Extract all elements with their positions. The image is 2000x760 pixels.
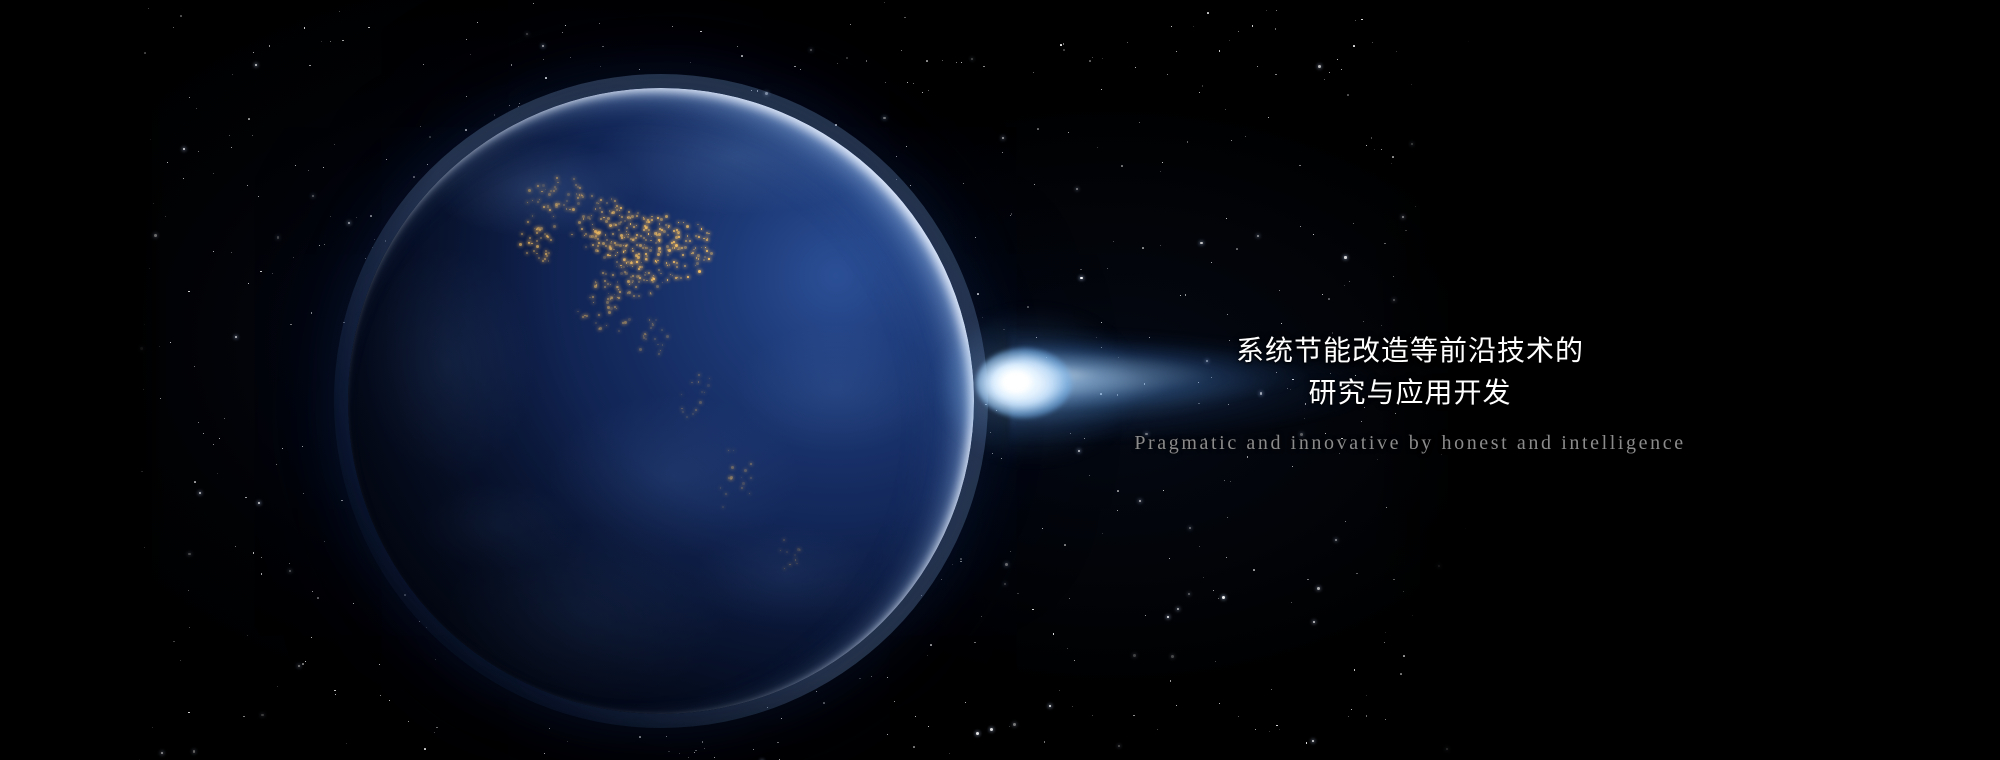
star	[232, 74, 233, 75]
star	[213, 173, 214, 174]
star	[261, 714, 263, 716]
star	[235, 336, 237, 338]
star	[1341, 69, 1342, 70]
star	[1215, 661, 1216, 662]
star	[781, 718, 782, 719]
star	[311, 637, 312, 638]
star	[188, 291, 190, 293]
star	[253, 52, 254, 53]
star	[1072, 706, 1073, 707]
star	[341, 500, 343, 502]
star	[253, 552, 255, 554]
star	[319, 245, 320, 246]
star	[1231, 140, 1232, 141]
star	[1009, 726, 1010, 727]
star	[1276, 725, 1278, 727]
star	[1227, 517, 1228, 518]
star	[1355, 20, 1356, 21]
star	[983, 66, 985, 68]
star	[672, 26, 673, 27]
star	[915, 716, 916, 717]
star	[277, 686, 278, 687]
star	[248, 283, 249, 284]
star	[1042, 528, 1043, 529]
star	[436, 727, 438, 729]
star	[526, 33, 528, 35]
star	[753, 749, 754, 750]
star	[183, 148, 185, 150]
star	[330, 41, 331, 42]
star	[975, 237, 976, 238]
star	[1329, 72, 1330, 73]
hero-banner: 系统节能改造等前沿技术的 研究与应用开发 Pragmatic and innov…	[0, 0, 2000, 760]
star	[887, 734, 888, 735]
star	[248, 118, 250, 120]
star	[545, 77, 547, 79]
star	[926, 60, 928, 62]
star	[258, 196, 259, 197]
star	[1004, 583, 1006, 585]
star	[1275, 28, 1277, 30]
star	[1349, 281, 1350, 282]
star	[942, 60, 943, 61]
star	[324, 541, 325, 542]
star	[1053, 633, 1055, 635]
star	[810, 49, 812, 51]
star	[1102, 58, 1103, 59]
star	[639, 69, 640, 70]
star	[1276, 10, 1278, 12]
star	[1268, 117, 1269, 118]
star	[1017, 593, 1019, 595]
star	[1344, 285, 1345, 286]
star	[567, 741, 568, 742]
star	[570, 57, 571, 58]
star	[180, 660, 181, 661]
star	[1067, 648, 1068, 649]
star	[423, 64, 424, 65]
star	[1271, 689, 1272, 690]
star	[213, 444, 214, 445]
star	[1348, 716, 1349, 717]
star	[961, 62, 962, 63]
star	[1176, 51, 1177, 52]
star	[1279, 729, 1280, 730]
star	[173, 27, 174, 28]
star	[1063, 49, 1065, 51]
star	[1127, 42, 1128, 43]
star	[1097, 147, 1098, 148]
star	[777, 742, 779, 744]
star	[1252, 25, 1254, 27]
star	[258, 502, 260, 504]
star	[1345, 521, 1346, 522]
star	[1238, 716, 1240, 718]
star	[1117, 490, 1119, 492]
star	[424, 748, 426, 750]
star	[1063, 43, 1065, 45]
banner-tagline: Pragmatic and innovative by honest and i…	[1060, 432, 1760, 455]
star	[343, 322, 345, 324]
star	[1354, 669, 1356, 671]
star	[1253, 569, 1255, 571]
star	[1219, 50, 1221, 52]
star	[928, 726, 929, 727]
star	[1226, 557, 1227, 558]
star	[255, 64, 257, 66]
star	[904, 17, 906, 19]
star	[1193, 26, 1194, 27]
star	[977, 293, 979, 295]
star	[1142, 247, 1144, 249]
star	[304, 27, 306, 29]
star	[850, 24, 851, 25]
star	[741, 55, 743, 57]
star	[247, 635, 248, 636]
star	[702, 741, 704, 743]
star	[1344, 256, 1346, 258]
star	[1170, 680, 1172, 682]
star	[1171, 26, 1172, 27]
star	[408, 721, 409, 722]
star	[1133, 654, 1136, 657]
star	[1177, 608, 1179, 610]
star	[949, 753, 950, 754]
headline-line-1: 系统节能改造等前沿技术的	[1060, 330, 1760, 372]
star	[188, 590, 189, 591]
star	[231, 147, 233, 149]
star	[1245, 136, 1247, 138]
star	[666, 736, 667, 737]
star	[189, 97, 190, 98]
star	[272, 273, 273, 274]
star	[368, 27, 370, 29]
star	[183, 178, 184, 179]
star	[1011, 213, 1013, 215]
star	[180, 15, 182, 17]
star	[1074, 660, 1075, 661]
star	[1202, 85, 1204, 87]
star	[335, 694, 336, 695]
star	[1049, 705, 1051, 707]
star	[305, 661, 306, 662]
star	[1189, 527, 1191, 529]
star	[1269, 731, 1271, 733]
star	[971, 58, 973, 60]
star	[1266, 10, 1267, 11]
star	[562, 32, 563, 33]
star	[1068, 132, 1069, 133]
star	[1307, 579, 1309, 581]
star	[252, 135, 254, 137]
star	[907, 82, 908, 83]
star	[1010, 215, 1011, 216]
star	[339, 11, 340, 12]
star	[293, 257, 294, 258]
star	[466, 39, 467, 40]
star	[600, 66, 601, 67]
star	[599, 23, 600, 24]
star	[217, 473, 218, 474]
star	[308, 170, 309, 171]
star	[282, 448, 283, 449]
star	[188, 553, 190, 555]
star	[1107, 268, 1108, 269]
star	[303, 493, 304, 494]
star	[884, 2, 885, 3]
star	[243, 716, 245, 718]
star	[317, 597, 319, 599]
star	[1139, 500, 1141, 502]
star	[639, 736, 641, 738]
star	[913, 746, 915, 748]
star	[229, 135, 230, 136]
star	[1102, 533, 1103, 534]
star	[188, 712, 190, 714]
star	[302, 663, 304, 665]
star	[992, 453, 993, 454]
star	[1167, 616, 1169, 618]
star	[434, 732, 435, 733]
star	[1226, 218, 1227, 219]
star	[219, 438, 220, 439]
star	[1211, 262, 1212, 263]
star	[1225, 109, 1226, 110]
star	[544, 753, 546, 755]
star	[245, 497, 247, 499]
star	[1199, 546, 1200, 547]
star	[1005, 563, 1008, 566]
star	[688, 757, 689, 758]
star	[1163, 490, 1164, 491]
star	[170, 342, 171, 343]
star	[1002, 152, 1003, 153]
comet-core	[992, 364, 1040, 400]
star	[533, 3, 534, 4]
star	[247, 185, 248, 186]
star	[602, 46, 604, 48]
star	[1080, 277, 1082, 279]
star	[1187, 141, 1189, 143]
star	[1313, 234, 1314, 235]
star	[1222, 596, 1225, 599]
star	[1044, 741, 1046, 743]
star	[260, 271, 262, 273]
star	[295, 165, 296, 166]
star	[470, 54, 471, 55]
star	[800, 69, 801, 70]
star	[1361, 19, 1363, 21]
star	[694, 752, 695, 753]
photo-left-fade	[130, 0, 170, 760]
star	[477, 22, 478, 23]
star	[1145, 615, 1146, 616]
star	[1176, 705, 1177, 706]
star	[302, 446, 303, 447]
star	[1292, 466, 1293, 467]
star	[321, 41, 323, 43]
star	[1313, 621, 1315, 623]
star	[1118, 745, 1120, 747]
star	[323, 167, 324, 168]
star	[1069, 598, 1071, 600]
star	[289, 563, 290, 564]
star	[1027, 306, 1029, 308]
star	[1001, 458, 1003, 460]
star	[1317, 587, 1320, 590]
star	[794, 66, 796, 68]
star	[1169, 558, 1171, 560]
star	[324, 244, 325, 245]
star	[1351, 709, 1352, 710]
star	[704, 748, 705, 749]
star	[213, 251, 214, 252]
star	[1257, 66, 1258, 67]
star	[309, 65, 311, 67]
star	[1162, 162, 1163, 163]
star	[542, 45, 544, 47]
star	[1032, 609, 1034, 611]
star	[565, 25, 566, 26]
star	[261, 557, 262, 558]
star	[679, 753, 680, 754]
star	[1279, 290, 1280, 291]
star	[837, 63, 838, 64]
star	[1010, 551, 1011, 552]
star	[173, 641, 175, 643]
headline-line-2: 研究与应用开发	[1060, 372, 1760, 414]
star	[1089, 475, 1090, 476]
star	[974, 642, 976, 644]
star	[1200, 242, 1202, 244]
star	[690, 62, 691, 63]
star	[1229, 40, 1230, 41]
star	[1238, 31, 1239, 32]
star	[198, 151, 199, 152]
star	[549, 728, 550, 729]
star	[1034, 184, 1035, 185]
star	[1180, 295, 1181, 296]
star	[1160, 245, 1161, 246]
star	[1167, 74, 1168, 75]
star	[334, 690, 336, 692]
star	[330, 216, 331, 217]
star	[1171, 655, 1174, 658]
star	[290, 324, 292, 326]
star	[1121, 165, 1123, 167]
star	[1188, 593, 1190, 595]
star	[1207, 12, 1209, 14]
globe-sphere	[348, 88, 974, 714]
star	[1160, 171, 1161, 172]
star	[1347, 94, 1349, 96]
star	[913, 83, 915, 85]
star	[1092, 715, 1093, 716]
star	[1089, 60, 1091, 62]
star	[1135, 67, 1137, 69]
star	[1203, 577, 1204, 578]
star	[1230, 481, 1231, 482]
star	[277, 236, 279, 238]
star	[346, 743, 347, 744]
star	[1199, 92, 1200, 93]
star	[1033, 72, 1034, 73]
star	[1080, 269, 1082, 271]
star	[198, 422, 199, 423]
star	[982, 317, 983, 318]
star	[1356, 573, 1358, 575]
star	[511, 64, 513, 66]
star	[231, 252, 232, 253]
star	[261, 573, 263, 575]
star	[1312, 740, 1314, 742]
star	[885, 82, 887, 84]
star	[714, 757, 715, 758]
star	[1139, 122, 1140, 123]
star	[1324, 79, 1325, 80]
star	[1257, 235, 1259, 237]
star	[1113, 241, 1114, 242]
star	[1101, 89, 1102, 90]
star	[700, 31, 702, 33]
star	[990, 728, 993, 731]
star	[1275, 74, 1277, 76]
star	[224, 418, 225, 419]
star	[289, 570, 291, 572]
star	[1117, 510, 1118, 511]
star	[1306, 742, 1308, 744]
earth-night-globe	[348, 88, 974, 714]
star	[1353, 223, 1354, 224]
star	[1328, 298, 1330, 300]
star	[1059, 690, 1060, 691]
star	[196, 108, 197, 109]
star	[312, 591, 313, 592]
star	[334, 144, 335, 145]
star	[1013, 723, 1016, 726]
star	[1322, 294, 1323, 295]
star	[1247, 456, 1249, 458]
star	[846, 57, 848, 59]
star	[1060, 44, 1062, 46]
star	[1227, 314, 1228, 315]
star	[1318, 65, 1321, 68]
star	[1291, 602, 1292, 603]
star	[737, 46, 738, 47]
star	[1064, 544, 1066, 546]
star	[1224, 480, 1225, 481]
star	[1299, 165, 1301, 167]
star	[1335, 539, 1337, 541]
star	[1219, 703, 1220, 704]
star	[1092, 57, 1093, 58]
star	[1133, 715, 1135, 717]
star	[203, 433, 204, 434]
star	[199, 492, 201, 494]
star	[1353, 45, 1355, 47]
star	[1157, 729, 1158, 730]
star	[342, 40, 344, 42]
star	[956, 62, 957, 63]
star	[1337, 59, 1338, 60]
star	[1185, 294, 1187, 296]
star	[189, 627, 190, 628]
star	[866, 60, 868, 62]
star	[543, 59, 544, 60]
star	[695, 750, 697, 752]
star	[1255, 729, 1256, 730]
star	[235, 546, 236, 547]
